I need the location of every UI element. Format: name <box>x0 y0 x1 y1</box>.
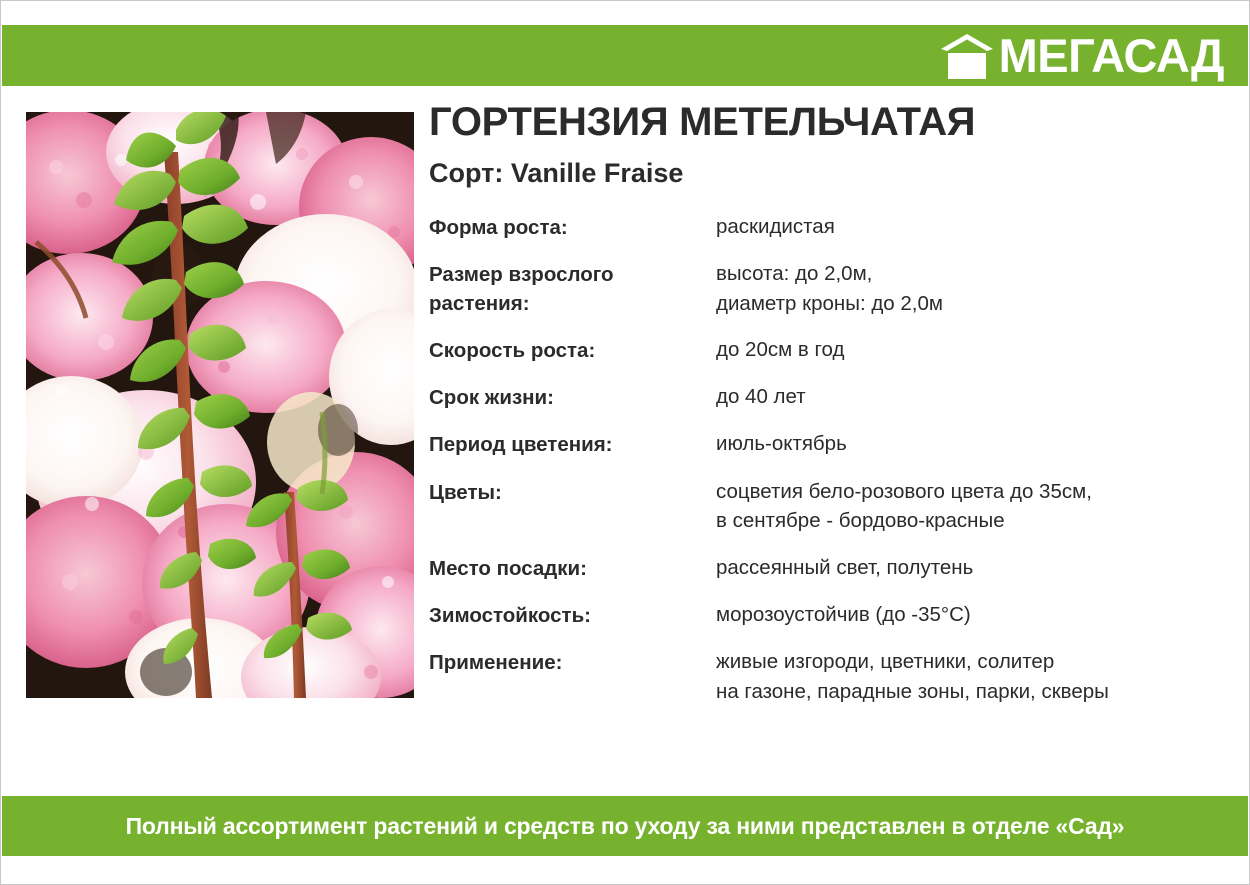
plant-photo <box>26 112 414 698</box>
spec-value-line: на газоне, парадные зоны, парки, скверы <box>716 677 1109 707</box>
spec-value-line: в сентябре - бордово-красные <box>716 506 1092 536</box>
specs-table: Форма роста: раскидистая Размер взрослог… <box>429 212 1229 707</box>
house-icon <box>939 33 995 79</box>
spec-value-line: июль-октябрь <box>716 429 847 459</box>
spec-label: Скорость роста: <box>429 335 716 365</box>
spec-label: Размер взрослого растения: <box>429 259 716 318</box>
cultivar-label: Сорт: Vanille Fraise <box>429 159 1229 189</box>
page-title: ГОРТЕНЗИЯ МЕТЕЛЬЧАТАЯ <box>429 101 1229 143</box>
header-bar: МЕГАСАД <box>2 25 1248 86</box>
brand-name: МЕГАСАД <box>999 32 1224 79</box>
spec-label: Срок жизни: <box>429 382 716 412</box>
plant-details: ГОРТЕНЗИЯ МЕТЕЛЬЧАТАЯ Сорт: Vanille Frai… <box>429 101 1229 724</box>
spec-row: Цветы: соцветия бело-розового цвета до 3… <box>429 477 1229 536</box>
spec-value-line: раскидистая <box>716 212 835 242</box>
spec-value-line: до 40 лет <box>716 382 806 412</box>
spec-label: Применение: <box>429 647 716 677</box>
spec-row: Срок жизни: до 40 лет <box>429 382 1229 412</box>
spec-value-line: диаметр кроны: до 2,0м <box>716 289 943 319</box>
spec-value-line: соцветия бело-розового цвета до 35см, <box>716 477 1092 507</box>
brand-logo: МЕГАСАД <box>939 32 1224 79</box>
spec-label: Место посадки: <box>429 553 716 583</box>
spec-value: высота: до 2,0м, диаметр кроны: до 2,0м <box>716 259 943 318</box>
spec-row: Скорость роста: до 20см в год <box>429 335 1229 365</box>
spec-value-line: высота: до 2,0м, <box>716 259 943 289</box>
spec-row: Зимостойкость: морозоустойчив (до -35°C) <box>429 600 1229 630</box>
spec-label: Период цветения: <box>429 429 716 459</box>
spec-value-line: рассеянный свет, полутень <box>716 553 973 583</box>
spec-value-line: морозоустойчив (до -35°C) <box>716 600 971 630</box>
plant-info-card: МЕГАСАД <box>0 0 1250 885</box>
spec-row: Применение: живые изгороди, цветники, со… <box>429 647 1229 706</box>
spec-label: Форма роста: <box>429 212 716 242</box>
spec-row: Форма роста: раскидистая <box>429 212 1229 242</box>
spec-value: до 40 лет <box>716 382 806 412</box>
spec-label: Цветы: <box>429 477 716 507</box>
spec-value: июль-октябрь <box>716 429 847 459</box>
spec-value: до 20см в год <box>716 335 844 365</box>
spec-value-line: живые изгороди, цветники, солитер <box>716 647 1109 677</box>
spec-value: рассеянный свет, полутень <box>716 553 973 583</box>
footer-text: Полный ассортимент растений и средств по… <box>126 813 1125 840</box>
spec-value-line: до 20см в год <box>716 335 844 365</box>
house-body <box>948 53 986 79</box>
spec-value: живые изгороди, цветники, солитер на газ… <box>716 647 1109 706</box>
spec-value: соцветия бело-розового цвета до 35см, в … <box>716 477 1092 536</box>
spec-value: раскидистая <box>716 212 835 242</box>
spec-row: Период цветения: июль-октябрь <box>429 429 1229 459</box>
spec-label: Зимостойкость: <box>429 600 716 630</box>
spec-row: Размер взрослого растения: высота: до 2,… <box>429 259 1229 318</box>
footer-bar: Полный ассортимент растений и средств по… <box>2 796 1248 856</box>
spec-value: морозоустойчив (до -35°C) <box>716 600 971 630</box>
spec-row: Место посадки: рассеянный свет, полутень <box>429 553 1229 583</box>
